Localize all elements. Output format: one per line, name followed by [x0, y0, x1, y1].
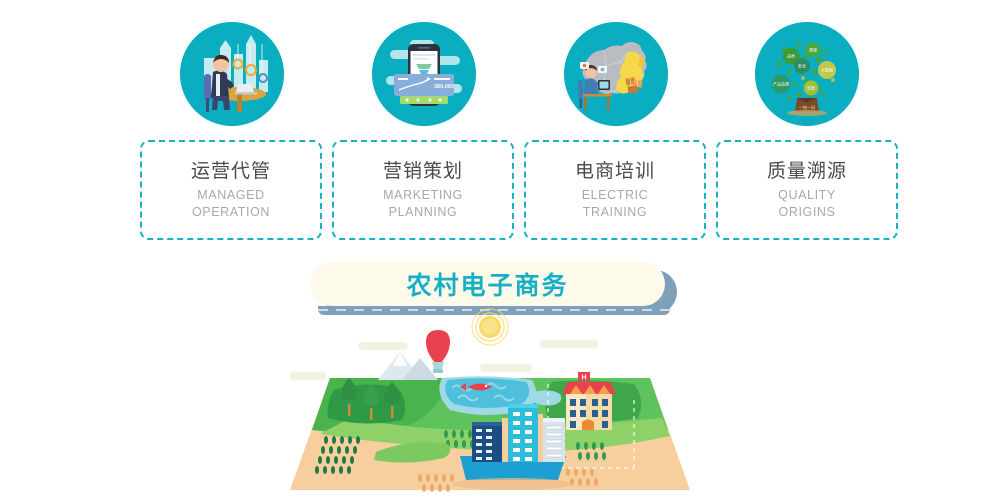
svg-text:溯源: 溯源: [809, 47, 817, 53]
card-title-en: ELECTRIC TRAINING: [582, 187, 649, 220]
card-quality-origins[interactable]: 质量溯源 QUALITY ORIGINS: [716, 140, 898, 240]
card-en-line2: OPERATION: [192, 204, 270, 221]
card-title-en: QUALITY ORIGINS: [778, 187, 836, 220]
card-en-line1: QUALITY: [778, 187, 836, 204]
feature-card-row: 运营代管 MANAGED OPERATION 营销策划 MARKETING PL…: [0, 140, 1000, 242]
svg-text:产品追溯: 产品追溯: [773, 81, 789, 87]
svg-text:H: H: [581, 375, 586, 382]
card-managed-operation[interactable]: 运营代管 MANAGED OPERATION: [140, 140, 322, 240]
card-electric-training[interactable]: 电商培训 ELECTRIC TRAINING: [524, 140, 706, 240]
svg-text:一物一码: 一物一码: [799, 104, 816, 111]
card-title-cn: 质量溯源: [767, 160, 847, 184]
svg-text:380,000: 380,000: [434, 84, 454, 90]
card-en-line2: ORIGINS: [778, 204, 836, 221]
svg-text:大数据: 大数据: [821, 67, 833, 73]
card-en-line1: MARKETING: [383, 187, 463, 204]
landscape-scene: H: [290, 300, 690, 500]
card-marketing-planning[interactable]: 营销策划 MARKETING PLANNING: [332, 140, 514, 240]
icon-row: 380,000: [0, 16, 1000, 136]
balloon-icon: [426, 330, 450, 373]
card-title-en: MANAGED OPERATION: [192, 187, 270, 220]
card-title-cn: 运营代管: [191, 160, 271, 184]
quality-origins-icon[interactable]: 品质 溯源 安全 大数据 产品追溯 监管 一物一码: [755, 22, 859, 126]
svg-text:监管: 监管: [807, 85, 815, 91]
svg-text:安全: 安全: [798, 63, 806, 69]
card-en-line1: ELECTRIC: [582, 187, 649, 204]
card-en-line1: MANAGED: [192, 187, 270, 204]
sun-icon: [472, 309, 508, 345]
card-title-en: MARKETING PLANNING: [383, 187, 463, 220]
svg-text:品质: 品质: [787, 53, 795, 59]
infographic-root: 380,000: [0, 0, 1000, 500]
electric-training-icon[interactable]: [564, 22, 668, 126]
managed-operation-icon[interactable]: [180, 22, 284, 126]
marketing-planning-icon[interactable]: 380,000: [372, 22, 476, 126]
card-title-cn: 电商培训: [575, 160, 655, 184]
banner-title: 农村电子商务: [406, 266, 568, 302]
mountains: [378, 352, 438, 380]
card-title-cn: 营销策划: [383, 160, 463, 184]
card-en-line2: PLANNING: [383, 204, 463, 221]
card-en-line2: TRAINING: [582, 204, 649, 221]
